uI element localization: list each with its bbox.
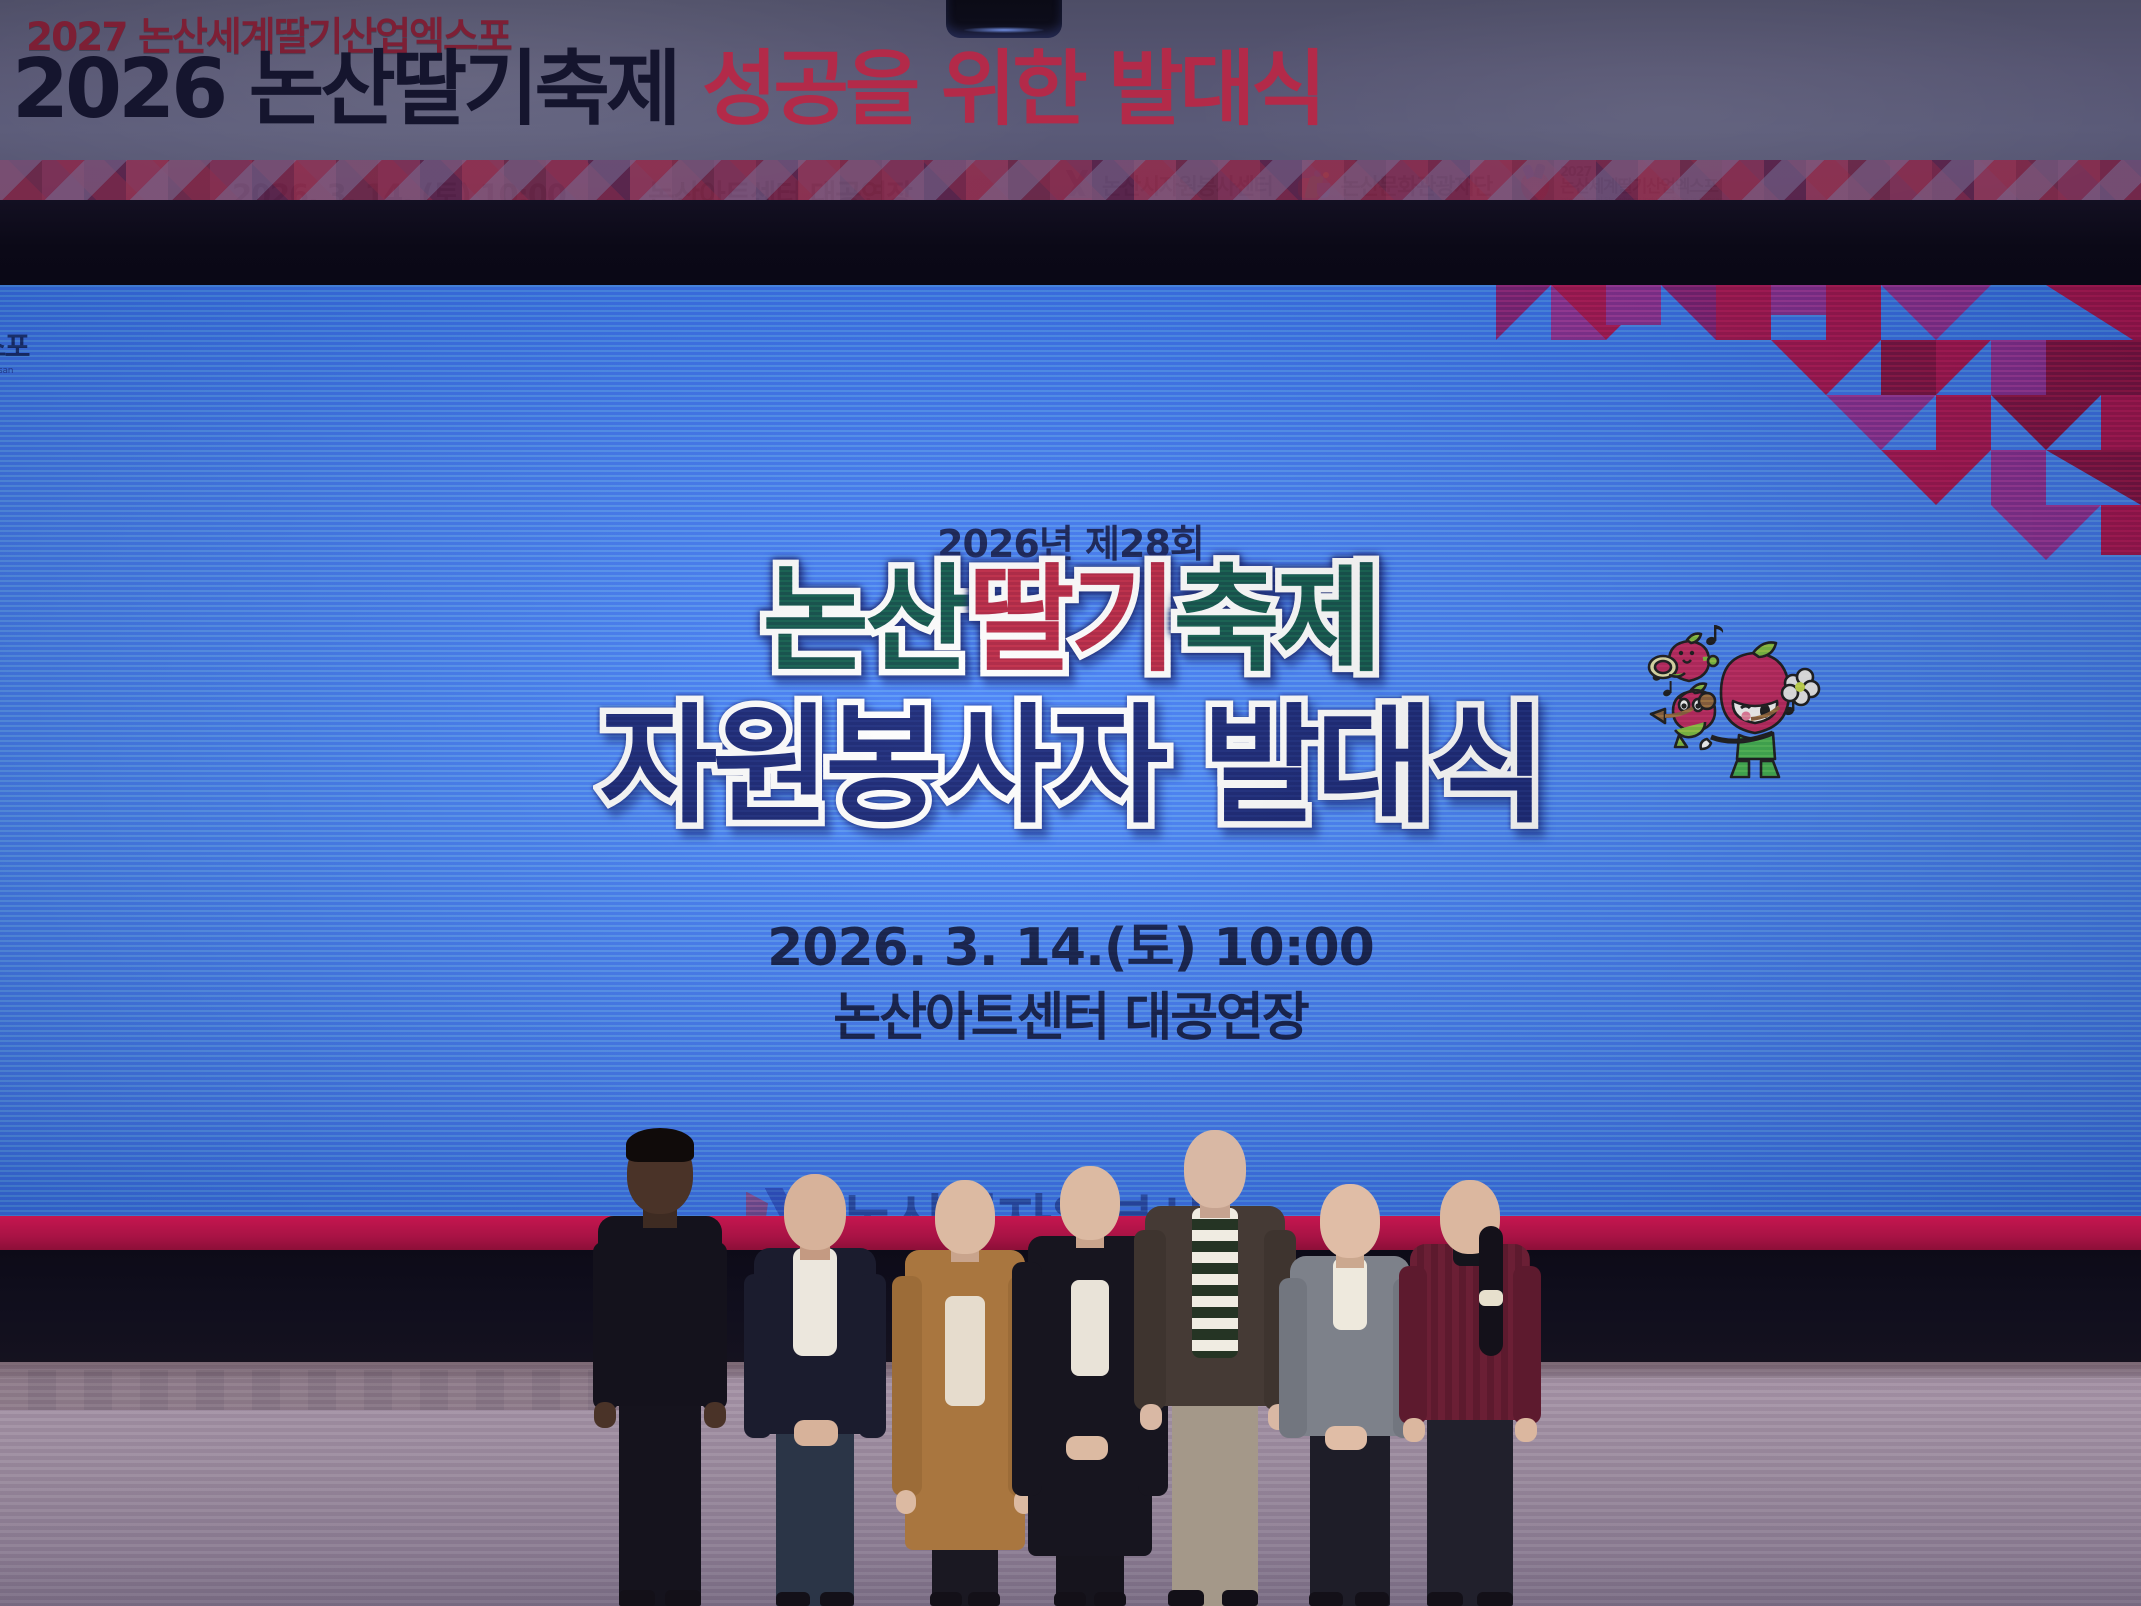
banner-title-year: 2026	[12, 42, 249, 137]
person-7-shoe-left	[1427, 1592, 1463, 1606]
banner-title-main: 논산딸기축제	[249, 42, 702, 137]
person-4-head	[1060, 1166, 1120, 1240]
screen-title-line-2: 자원봉사자 발대식	[0, 700, 2141, 834]
person-6-inner-top	[1333, 1258, 1367, 1330]
person-7-arm-left	[1399, 1266, 1427, 1424]
person-7-hand-right	[1515, 1418, 1537, 1442]
person-6-clasped-hands	[1325, 1426, 1367, 1450]
dark-wall-gap	[0, 200, 2141, 285]
person-3-arm-left	[892, 1276, 922, 1496]
volunteer-group	[0, 1130, 2141, 1606]
event-photo-scene: 2027 논산세계딸기산업엑스포 2026 논산딸기축제 성공을 위한 발대식 …	[0, 0, 2141, 1606]
ceiling-light-fixture-icon	[946, 0, 1062, 38]
person-5-arm-left	[1134, 1230, 1166, 1410]
person-2	[740, 1156, 890, 1606]
person-1-hair	[626, 1128, 694, 1162]
person-7-sweater	[1410, 1244, 1530, 1420]
person-7-shoe-right	[1477, 1592, 1513, 1606]
banner-title: 2026 논산딸기축제 성공을 위한 발대식	[12, 42, 1323, 139]
screen-title-nonsan: 논산	[762, 553, 967, 688]
person-2-clasped-hands	[794, 1420, 838, 1446]
screen-title-strawberry: 딸기	[968, 553, 1173, 688]
screen-title-line-1: 논산딸기축제	[0, 560, 2141, 682]
person-7-hand-left	[1403, 1418, 1425, 1442]
person-2-arm-right	[858, 1274, 886, 1438]
led-backdrop-screen: 산업엑스포 Industry Expo in Nonsan	[0, 285, 2141, 1250]
person-4-arm-left	[1012, 1262, 1042, 1496]
screen-title-festival: 축제	[1173, 553, 1378, 688]
person-2-shoe-right	[820, 1592, 854, 1606]
person-3-head	[935, 1180, 995, 1254]
expo-corner-logo: 산업엑스포 Industry Expo in Nonsan	[0, 325, 108, 376]
person-1-arm-left	[593, 1242, 619, 1410]
person-5-head	[1184, 1130, 1246, 1208]
person-2-legs	[776, 1426, 854, 1606]
person-4-clasped-hands	[1066, 1436, 1108, 1460]
person-3-hand-left	[896, 1490, 916, 1514]
person-5-legs	[1172, 1396, 1258, 1606]
person-4-shoe-right	[1094, 1592, 1126, 1606]
person-1-hand-right	[704, 1402, 726, 1428]
person-7-arm-right	[1513, 1266, 1541, 1424]
banner-geometric-strip	[0, 160, 2141, 200]
screen-datetime: 2026. 3. 14.(토) 10:00	[0, 905, 2141, 980]
music-note-icon	[1662, 681, 1672, 697]
person-3-inner-top	[945, 1296, 985, 1406]
banner-title-accent: 성공을 위한 발대식	[702, 42, 1323, 137]
person-3-shoe-left	[930, 1592, 962, 1606]
person-7-legs	[1427, 1410, 1513, 1606]
person-5-hand-left	[1140, 1404, 1162, 1430]
person-5-shoe-right	[1222, 1590, 1258, 1606]
person-1-legs	[619, 1396, 701, 1606]
person-1-arm-right	[701, 1242, 727, 1410]
expo-corner-logo-sub: Industry Expo in Nonsan	[0, 366, 108, 376]
expo-corner-logo-text: 산업엑스포	[0, 325, 108, 365]
screen-venue: 논산아트센터 대공연장	[0, 975, 2141, 1050]
person-2-shoe-left	[776, 1592, 810, 1606]
person-3-shoe-right	[968, 1592, 1000, 1606]
person-2-head	[784, 1174, 846, 1250]
person-4-shoe-left	[1054, 1592, 1086, 1606]
person-7-hair-tie	[1479, 1290, 1503, 1306]
person-1-hand-left	[594, 1402, 616, 1428]
person-6-arm-left	[1279, 1278, 1307, 1438]
person-1-shoe-right	[665, 1590, 701, 1606]
person-2-arm-left	[744, 1274, 772, 1438]
person-1	[585, 1130, 735, 1606]
person-7	[1395, 1158, 1545, 1606]
person-5-shoe-left	[1168, 1590, 1204, 1606]
person-6-shoe-right	[1355, 1592, 1389, 1606]
person-6-head	[1320, 1184, 1380, 1258]
person-1-shoe-left	[619, 1590, 655, 1606]
person-2-inner-top	[793, 1248, 837, 1356]
person-5-striped-sweater	[1192, 1208, 1238, 1358]
person-6-legs	[1310, 1426, 1390, 1606]
person-4-inner-top	[1071, 1280, 1109, 1376]
overhead-banner: 2027 논산세계딸기산업엑스포 2026 논산딸기축제 성공을 위한 발대식 …	[0, 0, 2141, 200]
person-6-shoe-left	[1309, 1592, 1343, 1606]
